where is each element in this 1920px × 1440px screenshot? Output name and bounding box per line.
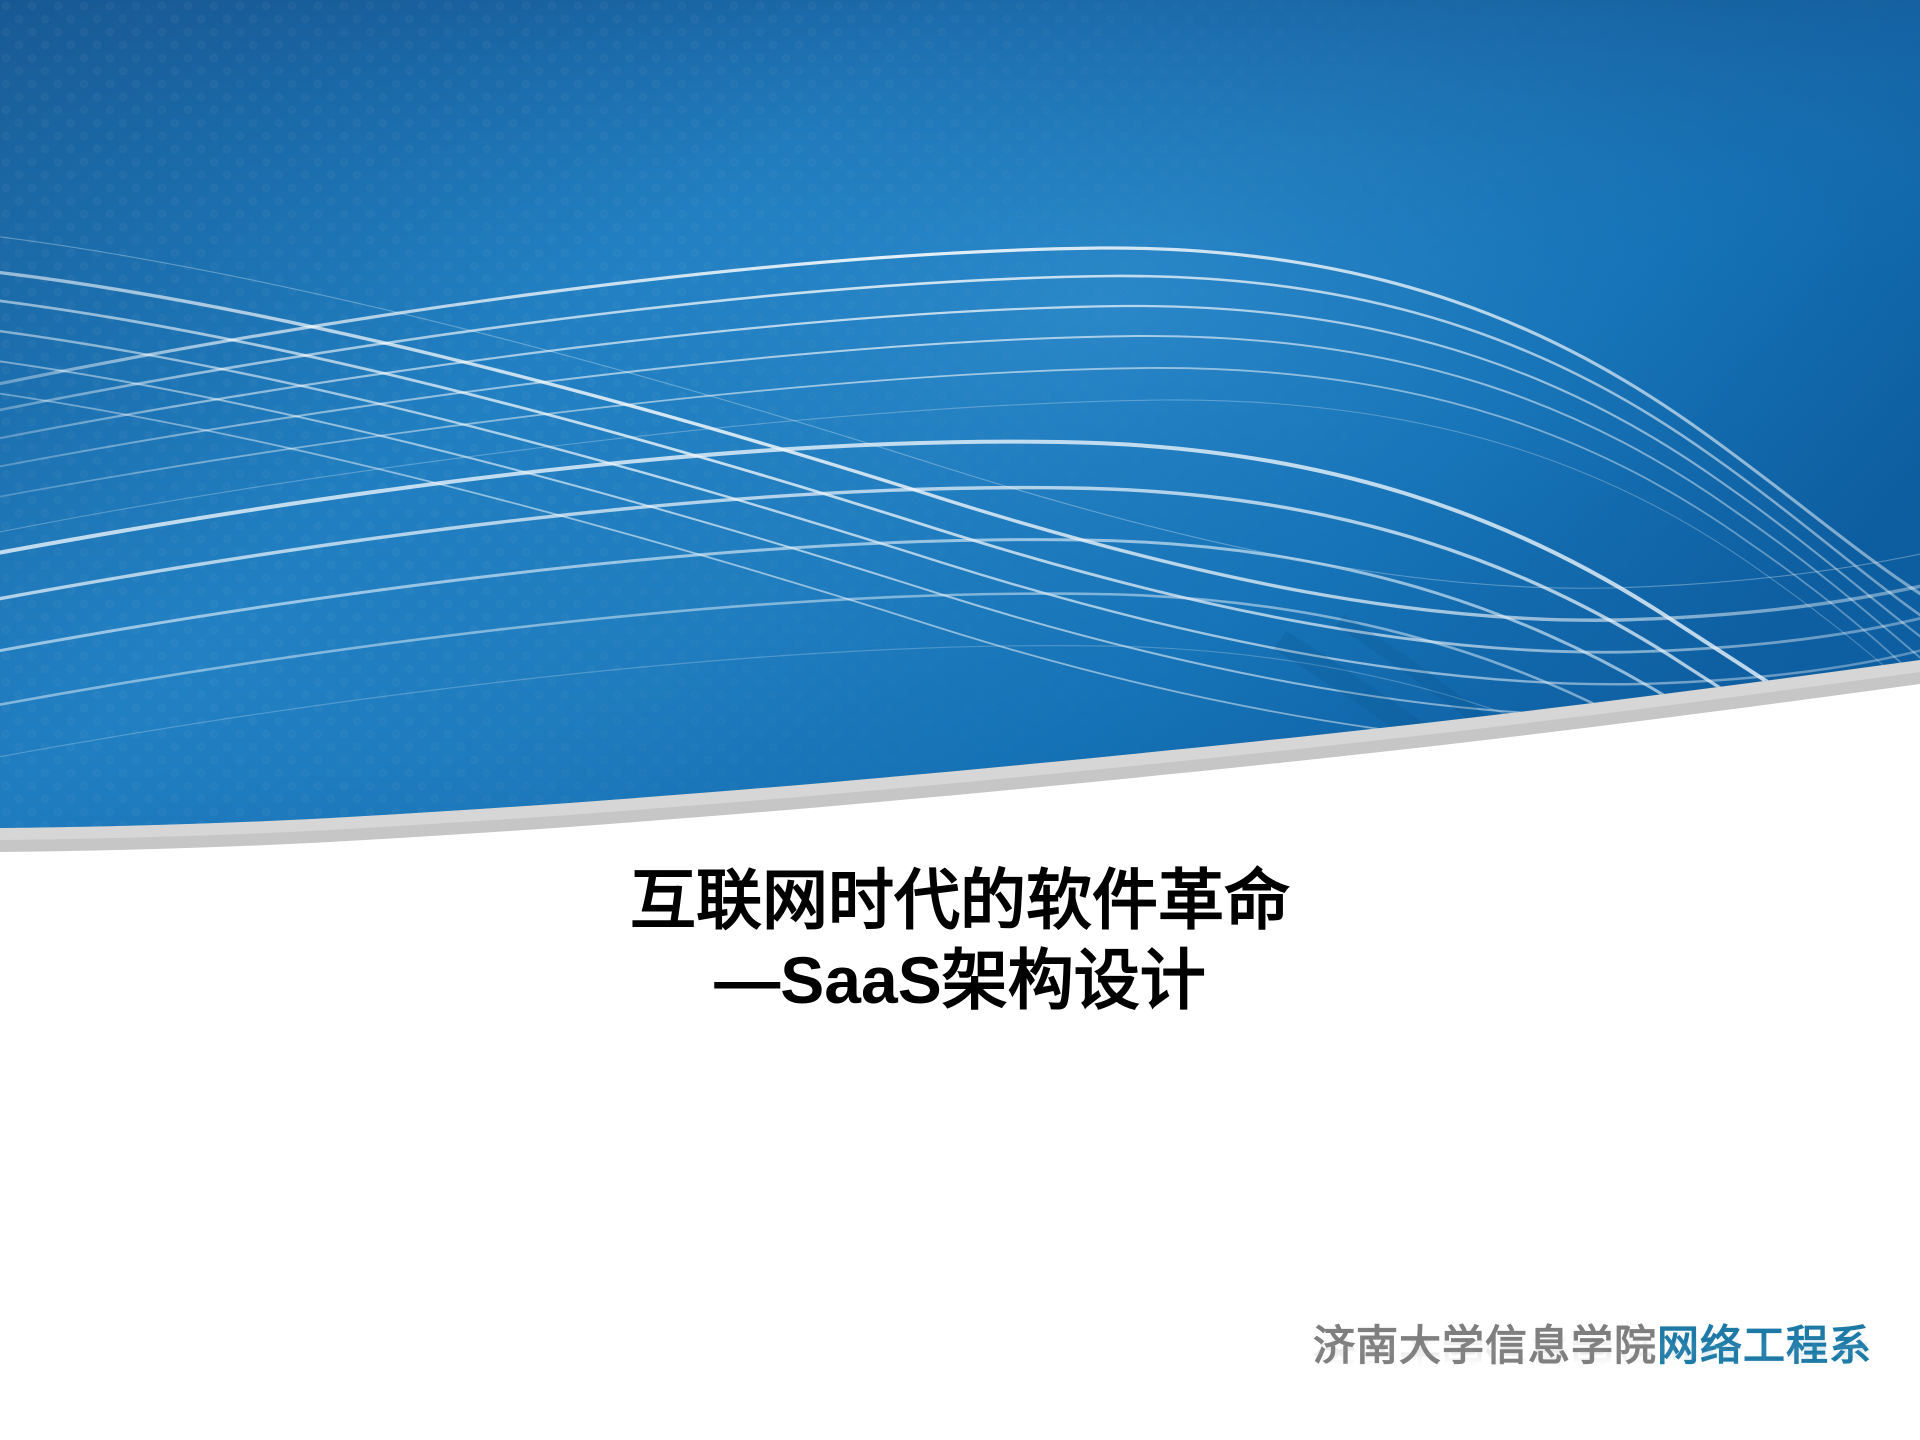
logo-reflection: 济南大学信息学院网络工程系 (1313, 1334, 1872, 1368)
title-line-2: —SaaS架构设计 (0, 940, 1920, 1020)
swoosh-lines (0, 232, 1920, 940)
gray-curve-band (0, 0, 1920, 852)
slide-canvas: 互联网时代的软件革命 —SaaS架构设计 济南大学信息学院网络工程系 济南大学信… (0, 0, 1920, 1440)
slide-title: 互联网时代的软件革命 —SaaS架构设计 (0, 860, 1920, 1020)
title-line-1: 互联网时代的软件革命 (0, 860, 1920, 940)
swoosh-shadows (1280, 620, 1556, 792)
logo-reflection-department: 网络工程系 (1657, 1334, 1872, 1368)
logo-reflection-university: 济南大学信息学院 (1313, 1334, 1657, 1368)
department-logo: 济南大学信息学院网络工程系 济南大学信息学院网络工程系 (1313, 1325, 1872, 1402)
slide-background (0, 0, 1920, 1440)
